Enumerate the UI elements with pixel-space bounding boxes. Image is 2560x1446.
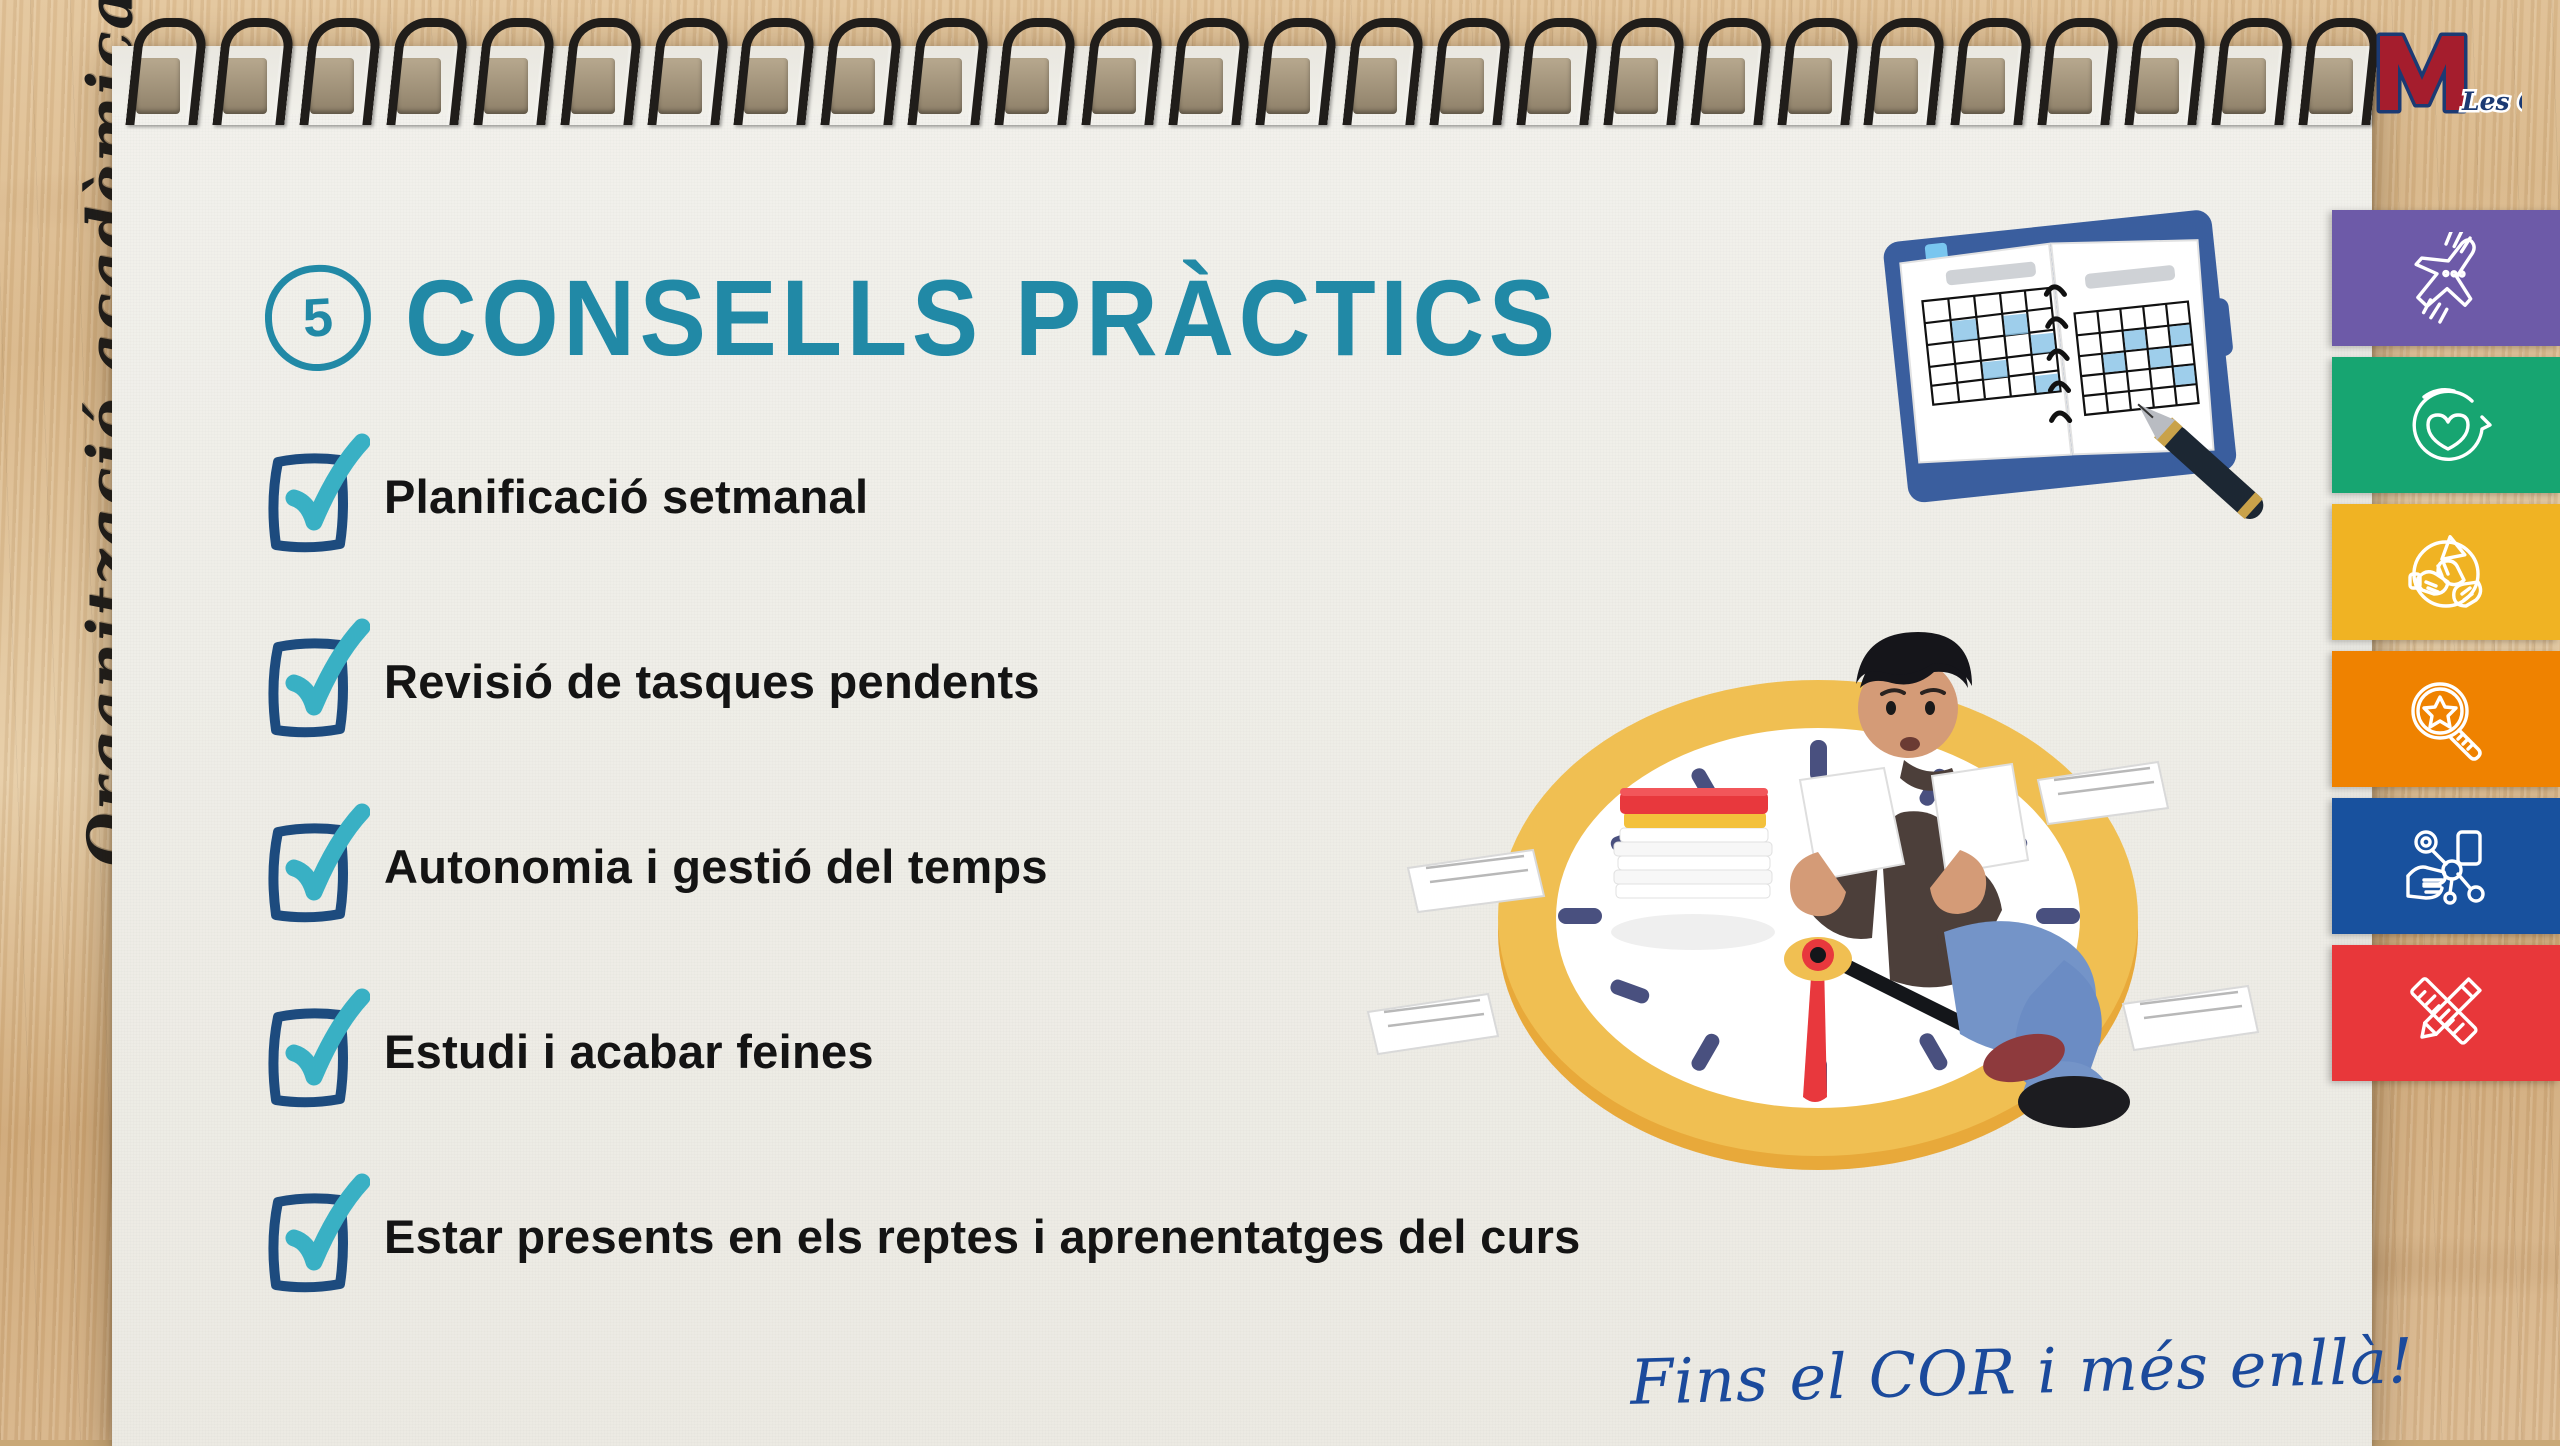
spiral-coil bbox=[1255, 18, 1338, 125]
airplane-icon bbox=[2400, 232, 2492, 324]
spiral-coil bbox=[647, 18, 730, 125]
page-title: CONSELLS PRÀCTICS bbox=[405, 255, 1560, 380]
spiral-coil bbox=[560, 18, 643, 125]
checkbox-checked-icon[interactable] bbox=[262, 625, 370, 737]
spiral-coil bbox=[1690, 18, 1773, 125]
spiral-coil bbox=[1342, 18, 1425, 125]
spiral-coil bbox=[1951, 18, 2034, 125]
pencil-ruler-icon bbox=[2400, 967, 2492, 1059]
slide-title-row: 5 CONSELLS PRÀCTICS bbox=[265, 255, 1660, 380]
spiral-coil bbox=[734, 18, 817, 125]
magnifier-star-icon bbox=[2400, 673, 2492, 765]
checkbox-checked-icon[interactable] bbox=[262, 440, 370, 552]
spiral-coil bbox=[908, 18, 991, 125]
hand-network-icon bbox=[2400, 820, 2492, 912]
checkbox-checked-icon[interactable] bbox=[262, 995, 370, 1107]
tab-pencil-ruler[interactable] bbox=[2332, 945, 2560, 1081]
spiral-coil bbox=[2125, 18, 2208, 125]
spiral-coil bbox=[1429, 18, 1512, 125]
open-planner-illustration bbox=[1852, 196, 2292, 556]
category-tabs bbox=[2332, 210, 2560, 1092]
checklist-item[interactable]: Estar presents en els reptes i aprenenta… bbox=[262, 1180, 1762, 1292]
tab-magnifier-star[interactable] bbox=[2332, 651, 2560, 787]
spiral-coil bbox=[995, 18, 1078, 125]
spiral-coil bbox=[125, 18, 208, 125]
heart-play-icon bbox=[2400, 379, 2492, 471]
spiral-coil bbox=[821, 18, 904, 125]
tab-heart-play[interactable] bbox=[2332, 357, 2560, 493]
spiral-coil bbox=[212, 18, 295, 125]
spiral-coil bbox=[2212, 18, 2295, 125]
checklist-item-label: Revisió de tasques pendents bbox=[384, 654, 1040, 709]
spiral-coil bbox=[1516, 18, 1599, 125]
tab-airplane[interactable] bbox=[2332, 210, 2560, 346]
spiral-coil bbox=[386, 18, 469, 125]
tab-hand-network[interactable] bbox=[2332, 798, 2560, 934]
spiral-coil bbox=[2038, 18, 2121, 125]
spiral-coil bbox=[1082, 18, 1165, 125]
spiral-coil bbox=[473, 18, 556, 125]
spiral-coil bbox=[1864, 18, 1947, 125]
spiral-coil bbox=[1168, 18, 1251, 125]
checklist-item-label: Autonomia i gestió del temps bbox=[384, 839, 1048, 894]
checklist-item-label: Estar presents en els reptes i aprenenta… bbox=[384, 1209, 1581, 1264]
student-on-clock-illustration bbox=[1348, 512, 2268, 1192]
checkbox-checked-icon[interactable] bbox=[262, 810, 370, 922]
spiral-coil bbox=[1603, 18, 1686, 125]
logo-name-text: Les Corts bbox=[2461, 87, 2522, 116]
teamwork-hands-icon bbox=[2400, 526, 2492, 618]
spiral-coil bbox=[1777, 18, 1860, 125]
section-number-badge: 5 bbox=[262, 262, 373, 373]
spiral-coil bbox=[299, 18, 382, 125]
school-logo: Les Corts bbox=[2362, 24, 2522, 128]
tab-teamwork-hands[interactable] bbox=[2332, 504, 2560, 640]
checklist-item-label: Estudi i acabar feines bbox=[384, 1024, 874, 1079]
checklist-item-label: Planificació setmanal bbox=[384, 469, 868, 524]
checkbox-checked-icon[interactable] bbox=[262, 1180, 370, 1292]
